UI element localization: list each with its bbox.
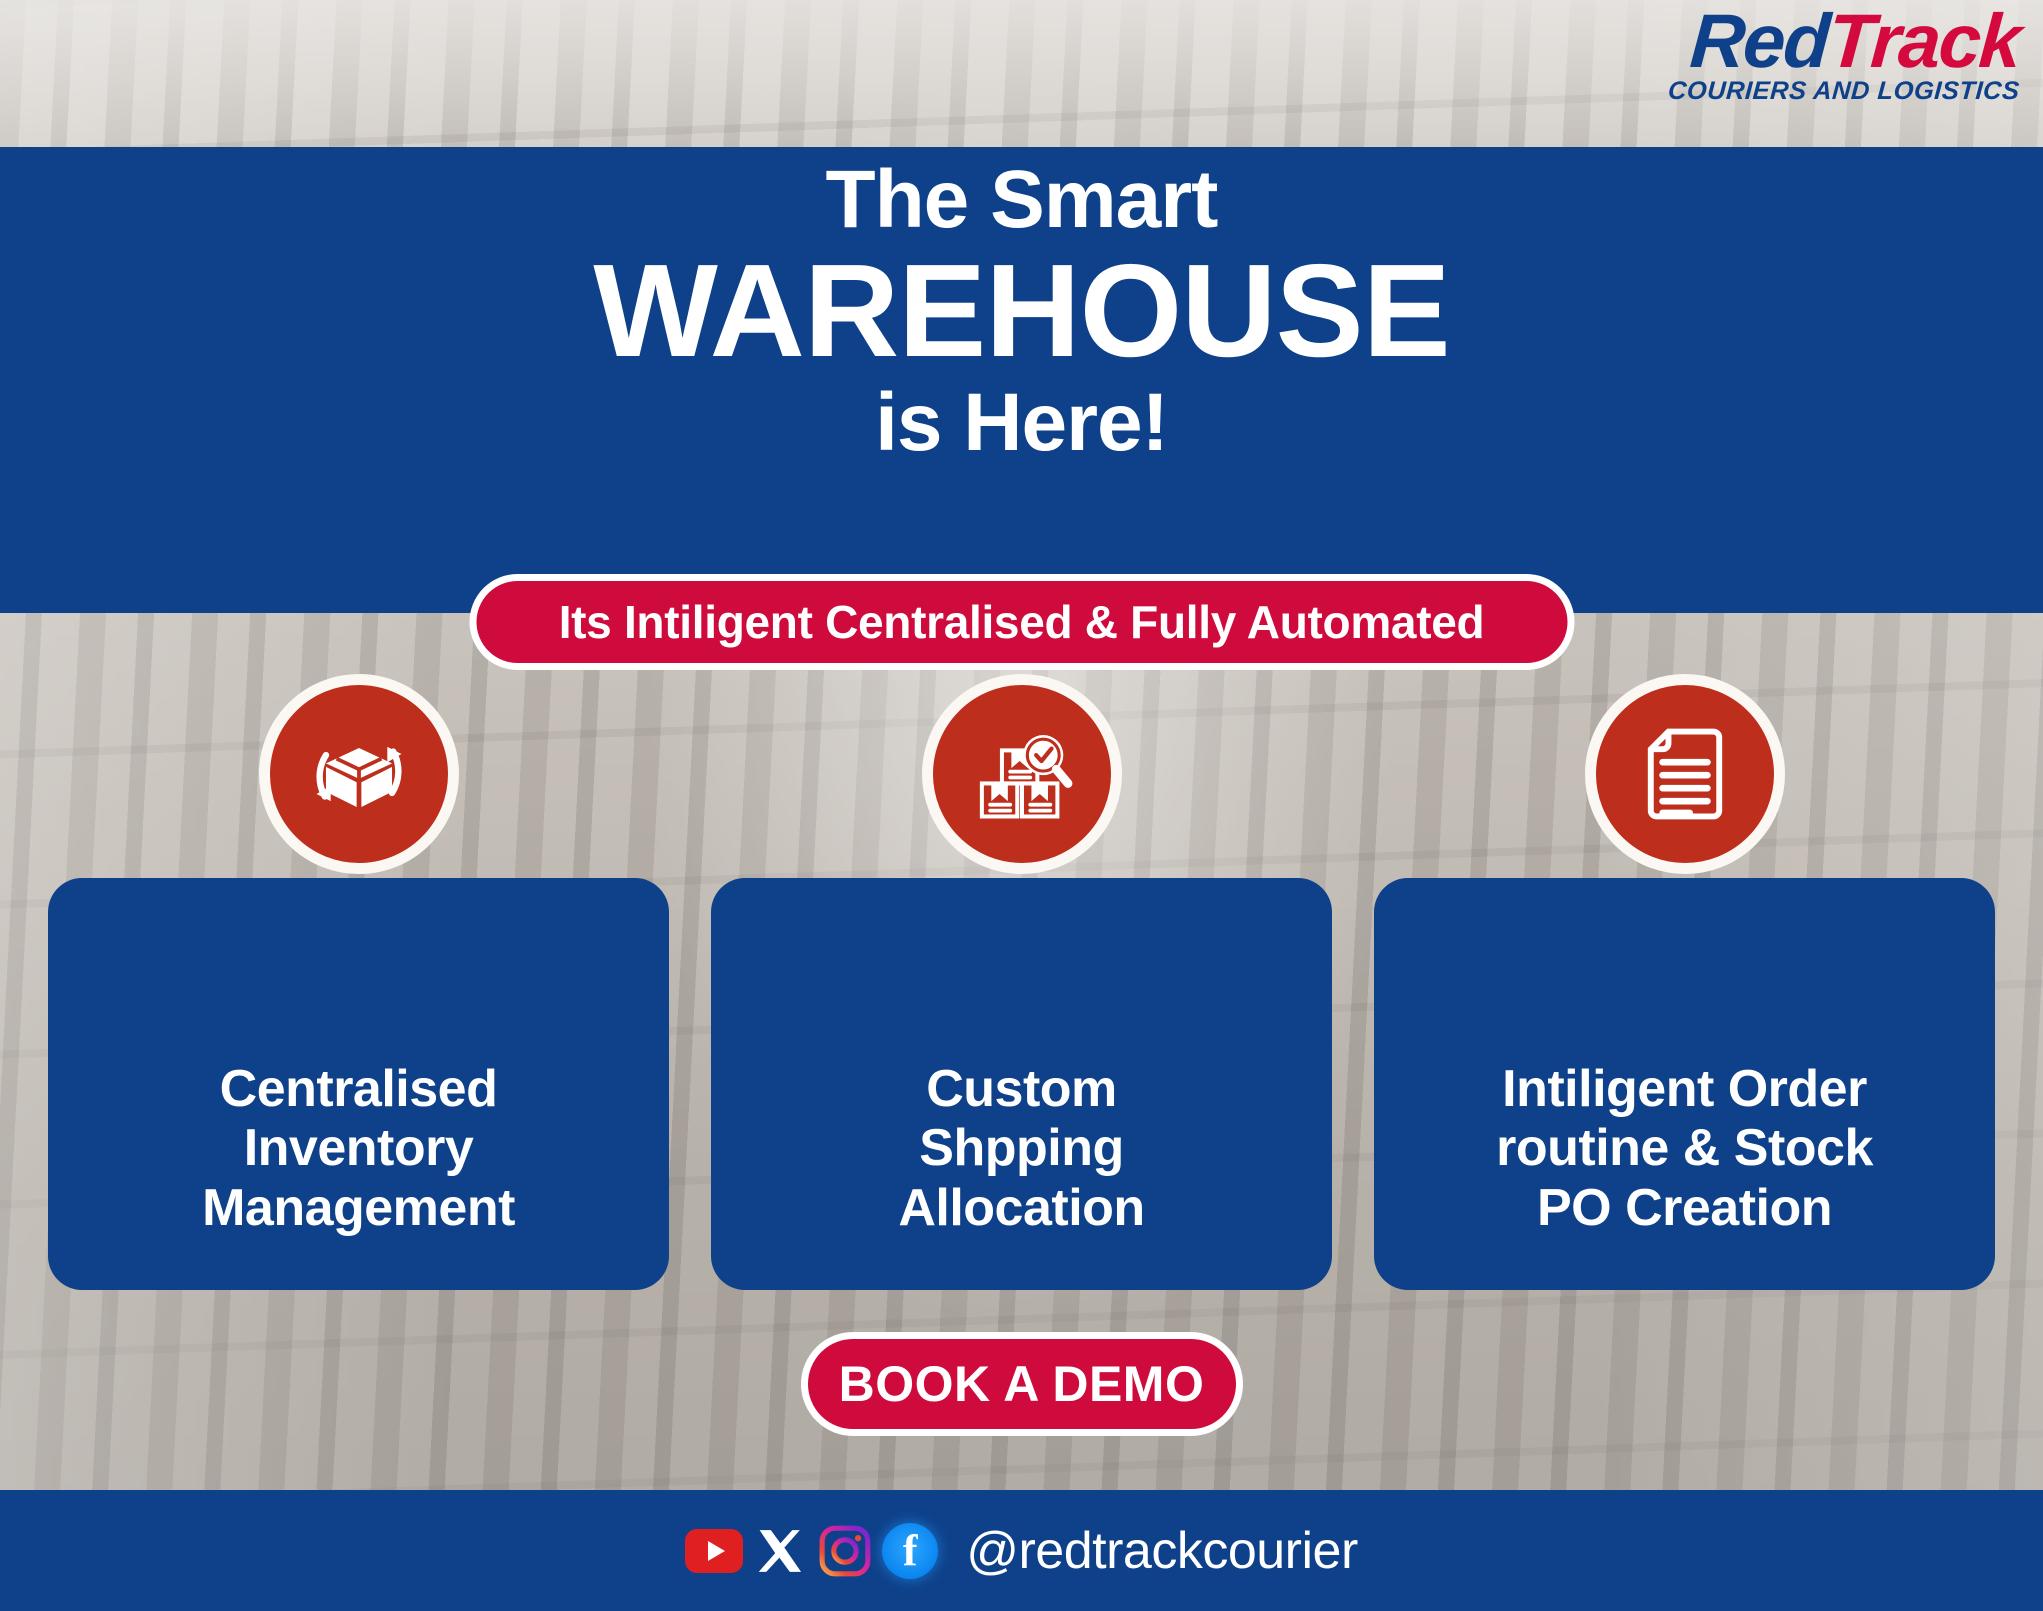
book-a-demo-button[interactable]: BOOK A DEMO [801, 1332, 1243, 1436]
feature-label-line-2: Shpping [898, 1119, 1144, 1178]
feature-card-intelligent-order-routing[interactable]: Intiligent Order routine & Stock PO Crea… [1374, 878, 1995, 1290]
feature-label-line-2: routine & Stock [1496, 1119, 1873, 1178]
feature-label-line-1: Centralised [202, 1060, 515, 1119]
feature-card-custom-shipping[interactable]: Custom Shpping Allocation [711, 878, 1332, 1290]
headline-line-2: WAREHOUSE [0, 244, 2043, 379]
feature-label-line-2: Inventory [202, 1119, 515, 1178]
promo-canvas: RedTrack COURIERS AND LOGISTICS The Smar… [0, 0, 2043, 1611]
youtube-play-triangle [708, 1541, 725, 1561]
headline-band: The Smart WAREHOUSE is Here! [0, 147, 2043, 613]
logo-wordmark: RedTrack [1665, 6, 2022, 79]
redtrack-logo: RedTrack COURIERS AND LOGISTICS [1668, 6, 2020, 106]
feature-card-row: Centralised Inventory Management [48, 878, 1995, 1290]
feature-label-line-3: Allocation [898, 1179, 1144, 1238]
feature-card-label: Centralised Inventory Management [192, 1060, 525, 1270]
instagram-icon[interactable] [817, 1523, 873, 1579]
facebook-icon[interactable]: f [882, 1523, 938, 1579]
feature-card-label: Intiligent Order routine & Stock PO Crea… [1486, 1060, 1883, 1270]
headline-line-3: is Here! [0, 379, 2043, 468]
box-refresh-icon [259, 674, 459, 874]
social-footer: f @redtrackcourier [0, 1490, 2043, 1611]
subheadline-text: Its Intiligent Centralised & Fully Autom… [559, 595, 1485, 649]
youtube-icon[interactable] [685, 1529, 743, 1573]
feature-card-label: Custom Shpping Allocation [888, 1060, 1154, 1270]
facebook-f-glyph: f [903, 1529, 918, 1573]
feature-label-line-3: PO Creation [1496, 1179, 1873, 1238]
feature-label-line-1: Intiligent Order [1496, 1060, 1873, 1119]
headline-line-1: The Smart [0, 157, 2043, 244]
document-lines-icon [1585, 674, 1785, 874]
social-handle: @redtrackcourier [966, 1521, 1358, 1581]
subheadline-pill: Its Intiligent Centralised & Fully Autom… [469, 574, 1574, 670]
headline-block: The Smart WAREHOUSE is Here! [0, 147, 2043, 467]
feature-label-line-3: Management [202, 1179, 515, 1238]
logo-tagline: COURIERS AND LOGISTICS [1666, 77, 2020, 106]
book-a-demo-label: BOOK A DEMO [839, 1355, 1205, 1413]
x-twitter-icon[interactable] [752, 1523, 808, 1579]
social-icon-row: f [685, 1523, 938, 1579]
feature-label-line-1: Custom [898, 1060, 1144, 1119]
logo-word-track: Track [1825, 0, 2022, 84]
feature-card-centralised-inventory[interactable]: Centralised Inventory Management [48, 878, 669, 1290]
boxes-magnifier-check-icon [922, 674, 1122, 874]
logo-word-red: Red [1687, 0, 1831, 84]
